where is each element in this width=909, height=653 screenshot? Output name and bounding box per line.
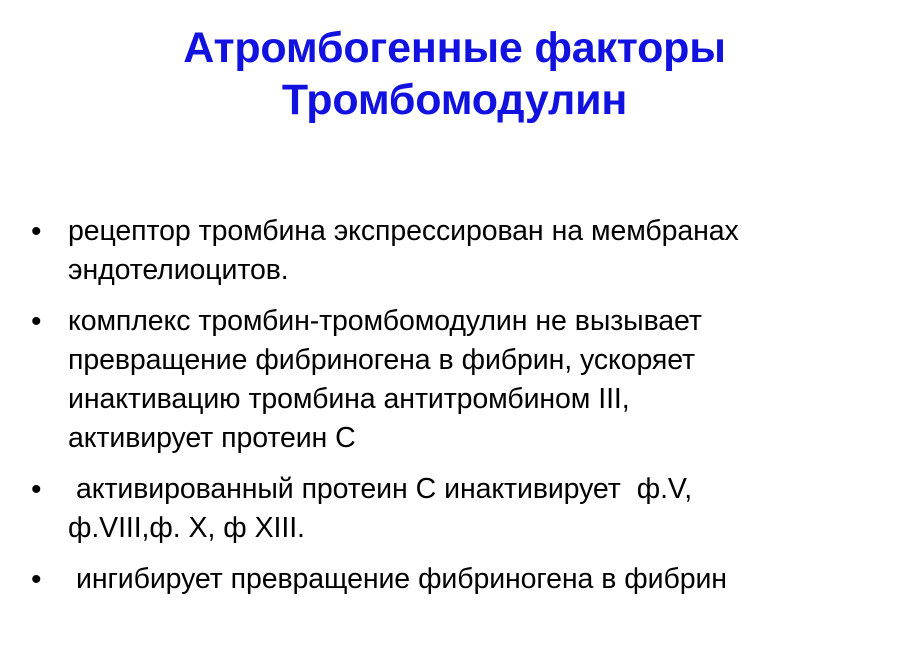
bullet-icon: • [31, 560, 45, 599]
slide-canvas: Атромбогенные факторы Тромбомодулин • ре… [0, 0, 909, 653]
list-item: • комплекс тромбин-тромбомодулин не вызы… [0, 302, 909, 458]
list-item-text: рецептор тромбина экспрессирован на мемб… [68, 212, 879, 290]
list-item: • рецептор тромбина экспрессирован на ме… [0, 212, 909, 290]
title-line-1: Атромбогенные факторы [0, 22, 909, 74]
list-item-text: активированный протеин С инактивирует ф.… [68, 470, 879, 548]
list-item-text: ингибирует превращение фибриногена в фиб… [68, 560, 879, 599]
bullet-icon: • [31, 470, 45, 509]
list-item: • активированный протеин С инактивирует … [0, 470, 909, 548]
list-item-text: комплекс тромбин-тромбомодулин не вызыва… [68, 302, 879, 458]
bullet-icon: • [31, 302, 45, 341]
list-item: • ингибирует превращение фибриногена в ф… [0, 560, 909, 599]
title-line-2: Тромбомодулин [0, 74, 909, 126]
bullet-list: • рецептор тромбина экспрессирован на ме… [0, 212, 909, 599]
bullet-icon: • [31, 212, 45, 251]
slide-title: Атромбогенные факторы Тромбомодулин [0, 22, 909, 126]
